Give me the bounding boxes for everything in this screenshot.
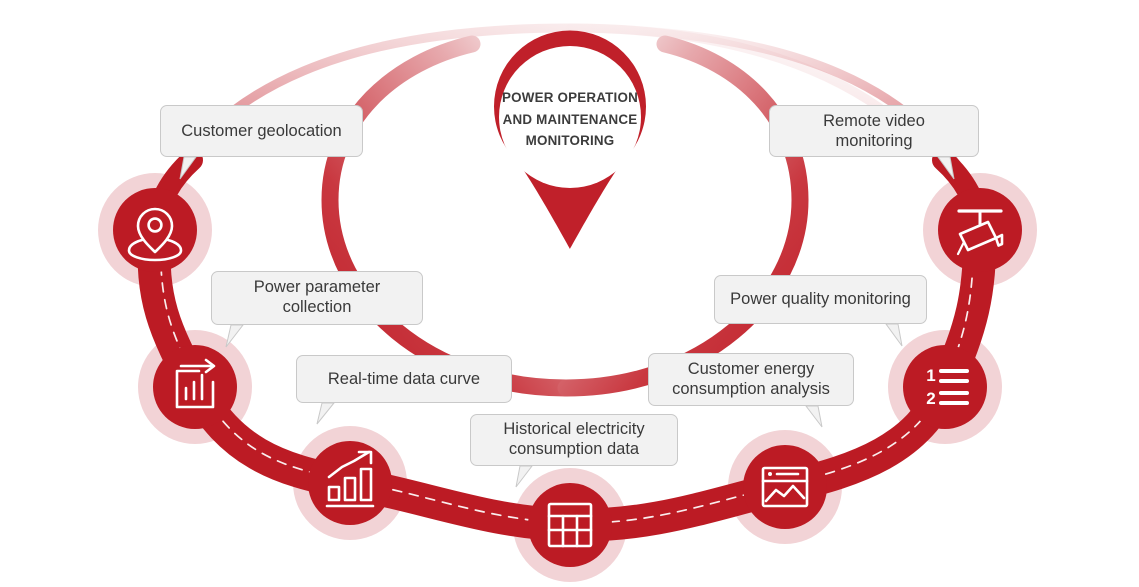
remote-video-monitoring-label[interactable]: Remote video monitoring xyxy=(769,105,979,157)
pin-title-line1: POWER OPERATION xyxy=(494,87,646,109)
customer-energy-analysis-label-text: Customer energy consumption analysis xyxy=(672,360,830,400)
node-real-time-data-curve[interactable] xyxy=(308,441,392,525)
remote-video-monitoring-label-text: Remote video monitoring xyxy=(784,111,964,151)
power-parameter-collection-label[interactable]: Power parameter collection xyxy=(211,271,423,325)
node-customer-energy-analysis[interactable] xyxy=(743,445,827,529)
node-power-quality-monitoring[interactable] xyxy=(903,345,987,429)
pin-title: POWER OPERATION AND MAINTENANCE MONITORI… xyxy=(494,87,646,152)
power-quality-monitoring-label[interactable]: Power quality monitoring xyxy=(714,275,927,324)
svg-text:1: 1 xyxy=(926,366,935,385)
customer-geolocation-label[interactable]: Customer geolocation xyxy=(160,105,363,157)
customer-energy-analysis-label[interactable]: Customer energy consumption analysis xyxy=(648,353,854,406)
pin-title-line2: AND MAINTENANCE xyxy=(494,109,646,131)
node-remote-video-monitoring[interactable] xyxy=(938,188,1022,272)
svg-text:2: 2 xyxy=(926,389,935,408)
diagram-canvas: 1 2 POWER OPERATION AND MAINTENANCE MONI… xyxy=(0,0,1139,587)
customer-geolocation-label-text: Customer geolocation xyxy=(181,121,342,141)
power-parameter-collection-label-text: Power parameter collection xyxy=(254,278,381,318)
historical-consumption-label-text: Historical electricity consumption data xyxy=(503,420,644,460)
real-time-data-curve-label[interactable]: Real-time data curve xyxy=(296,355,512,403)
pin-title-line3: MONITORING xyxy=(494,130,646,152)
historical-consumption-label[interactable]: Historical electricity consumption data xyxy=(470,414,678,466)
power-quality-monitoring-label-text: Power quality monitoring xyxy=(730,289,911,309)
node-historical-consumption[interactable] xyxy=(528,483,612,567)
real-time-data-curve-label-text: Real-time data curve xyxy=(328,369,480,389)
